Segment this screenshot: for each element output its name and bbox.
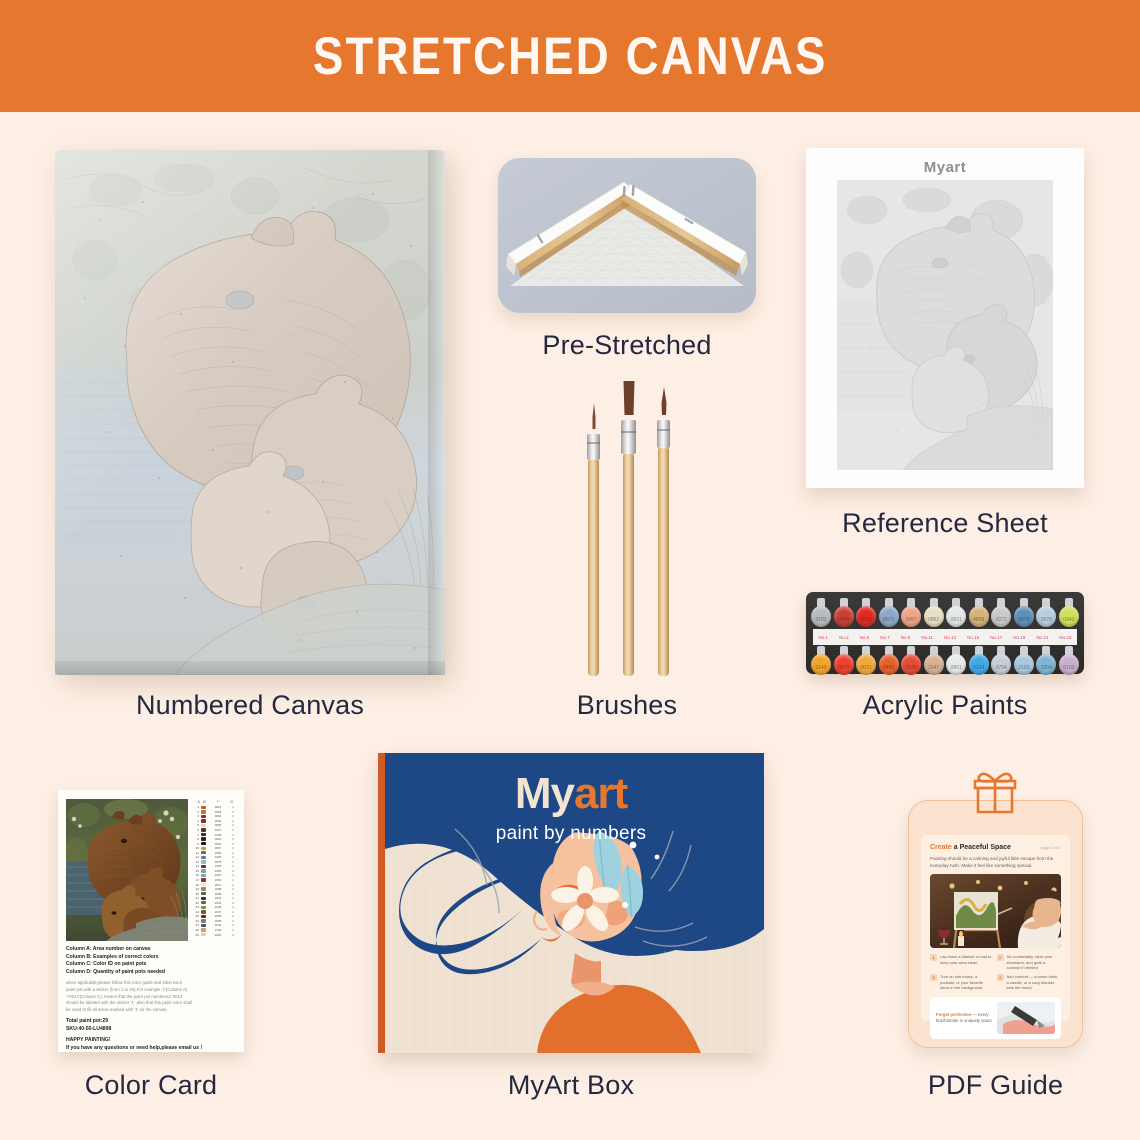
paint-pot-id: 4809 [969, 617, 989, 623]
brush-bristles [660, 387, 668, 420]
paint-pot: 0140 [811, 646, 831, 675]
box-tagline: paint by numbers [378, 823, 764, 845]
paint-pot: 2103 [1014, 646, 1034, 675]
paint-pot-body: 0901 [946, 654, 966, 675]
reference-sheet-artwork [837, 180, 1053, 470]
paint-pot-id: 0034 [834, 617, 854, 623]
pre-stretched-image [498, 158, 756, 313]
color-card-table: A B C D 10014120018130002140003150065160… [193, 799, 236, 941]
paint-pot: 0070 [834, 646, 854, 675]
pdf-tip-number: 3 [930, 974, 937, 981]
paint-pot-body: 2103 [1014, 654, 1034, 675]
paint-pot-body: 0023 [856, 606, 876, 627]
paint-pot-id: 2103 [1014, 665, 1034, 671]
paint-label-code: No.9 [901, 635, 911, 640]
pdf-tip-number: 2 [997, 954, 1004, 961]
paint-pot-body: 2204 [1036, 654, 1056, 675]
paint-pot-id: 0070 [834, 665, 854, 671]
paint-pot-body: 0057 [901, 606, 921, 627]
col-header-d: D [229, 799, 235, 804]
page-title: STRETCHED CANVAS [313, 26, 828, 87]
total-paint-pot: Total paint pot:29 [66, 1018, 236, 1025]
paint-pot-body: 0342 [1059, 606, 1079, 627]
paint-pot-body: 2347 [924, 654, 944, 675]
box-logo-my: My [515, 769, 574, 818]
color-card-legend-line: Column D: Quantity of paint pots needed [66, 969, 236, 977]
paint-pot-id: 0135 [901, 665, 921, 671]
page-header: STRETCHED CANVAS [0, 0, 1140, 112]
paint-pot-body: 0182 [811, 606, 831, 627]
paint-label-code: No.2 [839, 635, 849, 640]
canvas-corner-photo [498, 158, 756, 313]
paint-pot-id: 0031 [856, 665, 876, 671]
brush-handle [623, 454, 634, 676]
label-pre-stretched: Pre-Stretched [498, 330, 756, 361]
paint-pot-body: 0070 [834, 654, 854, 675]
brush-ferrule [621, 420, 636, 454]
pdf-heading: page 1 of 1 Create a Peaceful Space [930, 843, 1061, 853]
pdf-tips: 1Lay down a blanket or mat to keep your … [930, 954, 1061, 991]
pdf-subtitle: Painting should be a calming and joyful … [930, 856, 1061, 869]
paint-pot: 0078 [1036, 598, 1056, 627]
color-card-legend-line: Column A: Area number on canvas [66, 946, 236, 954]
brush-small [588, 418, 599, 676]
paint-label-code: No.19 [1013, 635, 1025, 640]
paint-pot-body: 0631 [946, 606, 966, 627]
paint-pot: 4809 [969, 598, 989, 627]
pdf-cta-text: Forget perfection — every brushstroke is… [936, 1012, 992, 1024]
box-logo: Myart [378, 769, 764, 819]
brush-bristles [590, 403, 597, 434]
color-card-footer: Total paint pot:29 SKU:40-50-LU4898 HAPP… [66, 1018, 236, 1052]
brush-bristles [621, 381, 636, 420]
happy-painting: HAPPY PAINTING! [66, 1037, 236, 1044]
paint-pot: 0102 [1059, 646, 1079, 675]
label-myart-box: MyArt Box [378, 1070, 764, 1101]
paint-pot: 0342 [1059, 598, 1079, 627]
paint-label-code: No.23 [1059, 635, 1071, 640]
paint-row-bottom: 0140007000310460013523470901012407942103… [811, 646, 1079, 676]
color-card-photo [66, 799, 188, 941]
myart-box-image: Myart paint by numbers [378, 753, 764, 1053]
pdf-tip-text: Add comfort — a warm drink, a candle, or… [1007, 974, 1060, 991]
paint-pot: 0057 [901, 598, 921, 627]
pdf-cta-accent: Forget perfection [936, 1012, 971, 1017]
pdf-page: page 1 of 1 Create a Peaceful Space Pain… [921, 835, 1070, 1021]
paint-pot-body: 0140 [811, 654, 831, 675]
brush-handle [658, 448, 669, 676]
color-card-rows: 1001412001813000214000315006516013717013… [193, 805, 236, 941]
paint-pot-body: 0073 [1014, 606, 1034, 627]
paint-pot: 0862 [924, 598, 944, 627]
paint-pot-body: 0794 [991, 654, 1011, 675]
paint-pot: 0072 [879, 598, 899, 627]
brush-ferrule [657, 420, 670, 448]
paint-pot: 2204 [1036, 646, 1056, 675]
color-card-note-line: paint pot with a sticker (from 1 to 29).… [66, 987, 236, 994]
paint-pot: 0901 [946, 646, 966, 675]
color-card-top: A B C D 10014120018130002140003150065160… [66, 799, 236, 941]
brush-flat [623, 386, 634, 676]
paint-pot: 0182 [811, 598, 831, 627]
box-logo-art: art [574, 769, 627, 818]
paint-pot-id: 0124 [969, 665, 989, 671]
sku: SKU:40-50-LU4898 [66, 1026, 236, 1033]
label-brushes: Brushes [498, 690, 756, 721]
pdf-cta: Forget perfection — every brushstroke is… [930, 997, 1061, 1039]
paint-pot-id: 0182 [811, 617, 831, 623]
paint-pot-id: 0901 [946, 665, 966, 671]
contact-line: If you have any questions or need help,p… [66, 1045, 236, 1052]
paint-row-top: 0182003400230072005708620631480902720073… [811, 598, 1079, 628]
color-card-note-line: when applicable,please follow this color… [66, 980, 236, 987]
color-card-note-line: should be labeled with the sticker '1' ,… [66, 1000, 236, 1007]
numbered-canvas-image [55, 150, 445, 675]
paint-pot-body: 0034 [834, 606, 854, 627]
paint-pot-body: 0072 [879, 606, 899, 627]
paint-pot-id: 2347 [924, 665, 944, 671]
paint-label-code: No.1 [819, 635, 829, 640]
paint-pot-body: 0862 [924, 606, 944, 627]
pdf-tip: 3Turn on soft music, a podcast, or your … [930, 974, 993, 991]
paint-pot-id: 0631 [946, 617, 966, 623]
paint-pot-id: 0272 [991, 617, 1011, 623]
color-card-legend: Column A: Area number on canvasColumn B:… [66, 946, 236, 976]
brush-round [658, 394, 669, 676]
paint-pot-body: 0124 [969, 654, 989, 675]
pdf-guide-image: page 1 of 1 Create a Peaceful Space Pain… [908, 800, 1083, 1048]
color-card-note-line: be used to fill all areas marked with '1… [66, 1007, 236, 1014]
brushes-image [578, 386, 682, 676]
canvas-right-edge [428, 150, 445, 675]
paint-pot-body: 0031 [856, 654, 876, 675]
canvas-surface [55, 150, 445, 675]
pdf-tip: 2Sit comfortably, relax your shoulders, … [997, 954, 1060, 971]
paint-pot-id: 0072 [879, 617, 899, 623]
canvas-bottom-edge [55, 661, 445, 675]
paint-pot: 0460 [879, 646, 899, 675]
label-acrylic-paints: Acrylic Paints [806, 690, 1084, 721]
brush-handle [588, 460, 599, 676]
paint-pot: 0794 [991, 646, 1011, 675]
paint-pot-id: 2204 [1036, 665, 1056, 671]
cc-color-id: 2002 [206, 933, 230, 937]
reference-sheet-logo: Myart [806, 159, 1084, 176]
paint-pot-id: 0057 [901, 617, 921, 623]
paint-label-code: No.13 [944, 635, 956, 640]
paint-pot: 0031 [856, 646, 876, 675]
paint-pot-id: 0140 [811, 665, 831, 671]
pdf-page-number: page 1 of 1 [1041, 843, 1061, 853]
paint-pot: 0124 [969, 646, 989, 675]
paint-pot-body: 0135 [901, 654, 921, 675]
cc-quantity: 1 [230, 933, 236, 937]
col-header-c: C [207, 799, 229, 804]
brush-ferrule [587, 434, 600, 460]
paint-pot-id: 0794 [991, 665, 1011, 671]
paint-label-code: No.5 [860, 635, 870, 640]
pdf-heading-rest: a Peaceful Space [952, 844, 1011, 851]
pdf-cta-photo [997, 1002, 1055, 1034]
paint-pot: 0073 [1014, 598, 1034, 627]
paint-pot-body: 0078 [1036, 606, 1056, 627]
col-header-a: A [194, 799, 202, 804]
paint-label-code: No.17 [990, 635, 1002, 640]
capybara-outline-artwork [55, 150, 445, 675]
paint-pot-id: 0862 [924, 617, 944, 623]
paint-pot-id: 0023 [856, 617, 876, 623]
pdf-tip-text: Turn on soft music, a podcast, or your f… [940, 974, 993, 991]
pdf-tip: 1Lay down a blanket or mat to keep your … [930, 954, 993, 971]
pdf-tip-number: 1 [930, 954, 937, 961]
color-card-legend-line: Column C: Color ID on paint pots [66, 961, 236, 969]
pdf-tip-text: Sit comfortably, relax your shoulders, a… [1007, 954, 1060, 971]
paint-pot: 0135 [901, 646, 921, 675]
color-card-note: when applicable,please follow this color… [66, 980, 236, 1013]
paint-label-strip: No.1No.2No.5No.7No.9No.11No.13No.15No.17… [813, 629, 1077, 645]
label-color-card: Color Card [58, 1070, 244, 1101]
paint-label-code: No.15 [967, 635, 979, 640]
paint-label-code: No.11 [921, 635, 933, 640]
reference-sheet-image: Myart [806, 148, 1084, 488]
paint-pot: 0631 [946, 598, 966, 627]
pdf-tip-text: Lay down a blanket or mat to keep your a… [940, 954, 993, 971]
paint-pot-id: 0342 [1059, 617, 1079, 623]
cc-area-number: 29 [193, 933, 201, 937]
paint-pot-body: 0102 [1059, 654, 1079, 675]
paint-pot: 2347 [924, 646, 944, 675]
paint-pot: 0272 [991, 598, 1011, 627]
pdf-heading-accent: Create [930, 844, 952, 851]
label-reference-sheet: Reference Sheet [806, 508, 1084, 539]
paint-pot-body: 0272 [991, 606, 1011, 627]
paint-label-code: No.7 [880, 635, 890, 640]
color-card-note-line: +'0014'(Column C), means that the paint … [66, 994, 236, 1001]
pdf-tip: 4Add comfort — a warm drink, a candle, o… [997, 974, 1060, 991]
label-pdf-guide: PDF Guide [908, 1070, 1083, 1101]
color-card-image: A B C D 10014120018130002140003150065160… [58, 790, 244, 1052]
color-card-row: 2920021 [193, 932, 236, 937]
color-card-legend-line: Column B: Examples of correct colors [66, 954, 236, 962]
paint-pot: 0034 [834, 598, 854, 627]
pdf-tip-number: 4 [997, 974, 1004, 981]
paint-pot-body: 0460 [879, 654, 899, 675]
gift-icon [972, 770, 1018, 819]
paint-pot-id: 0102 [1059, 665, 1079, 671]
acrylic-paints-image: 0182003400230072005708620631480902720073… [806, 592, 1084, 674]
paint-pot-id: 0073 [1014, 617, 1034, 623]
paint-pot-id: 0078 [1036, 617, 1056, 623]
paint-label-code: No.21 [1036, 635, 1048, 640]
paint-pot: 0023 [856, 598, 876, 627]
paint-pot-body: 4809 [969, 606, 989, 627]
label-numbered-canvas: Numbered Canvas [55, 690, 445, 721]
paint-pot-id: 0460 [879, 665, 899, 671]
pdf-photo [930, 874, 1061, 948]
